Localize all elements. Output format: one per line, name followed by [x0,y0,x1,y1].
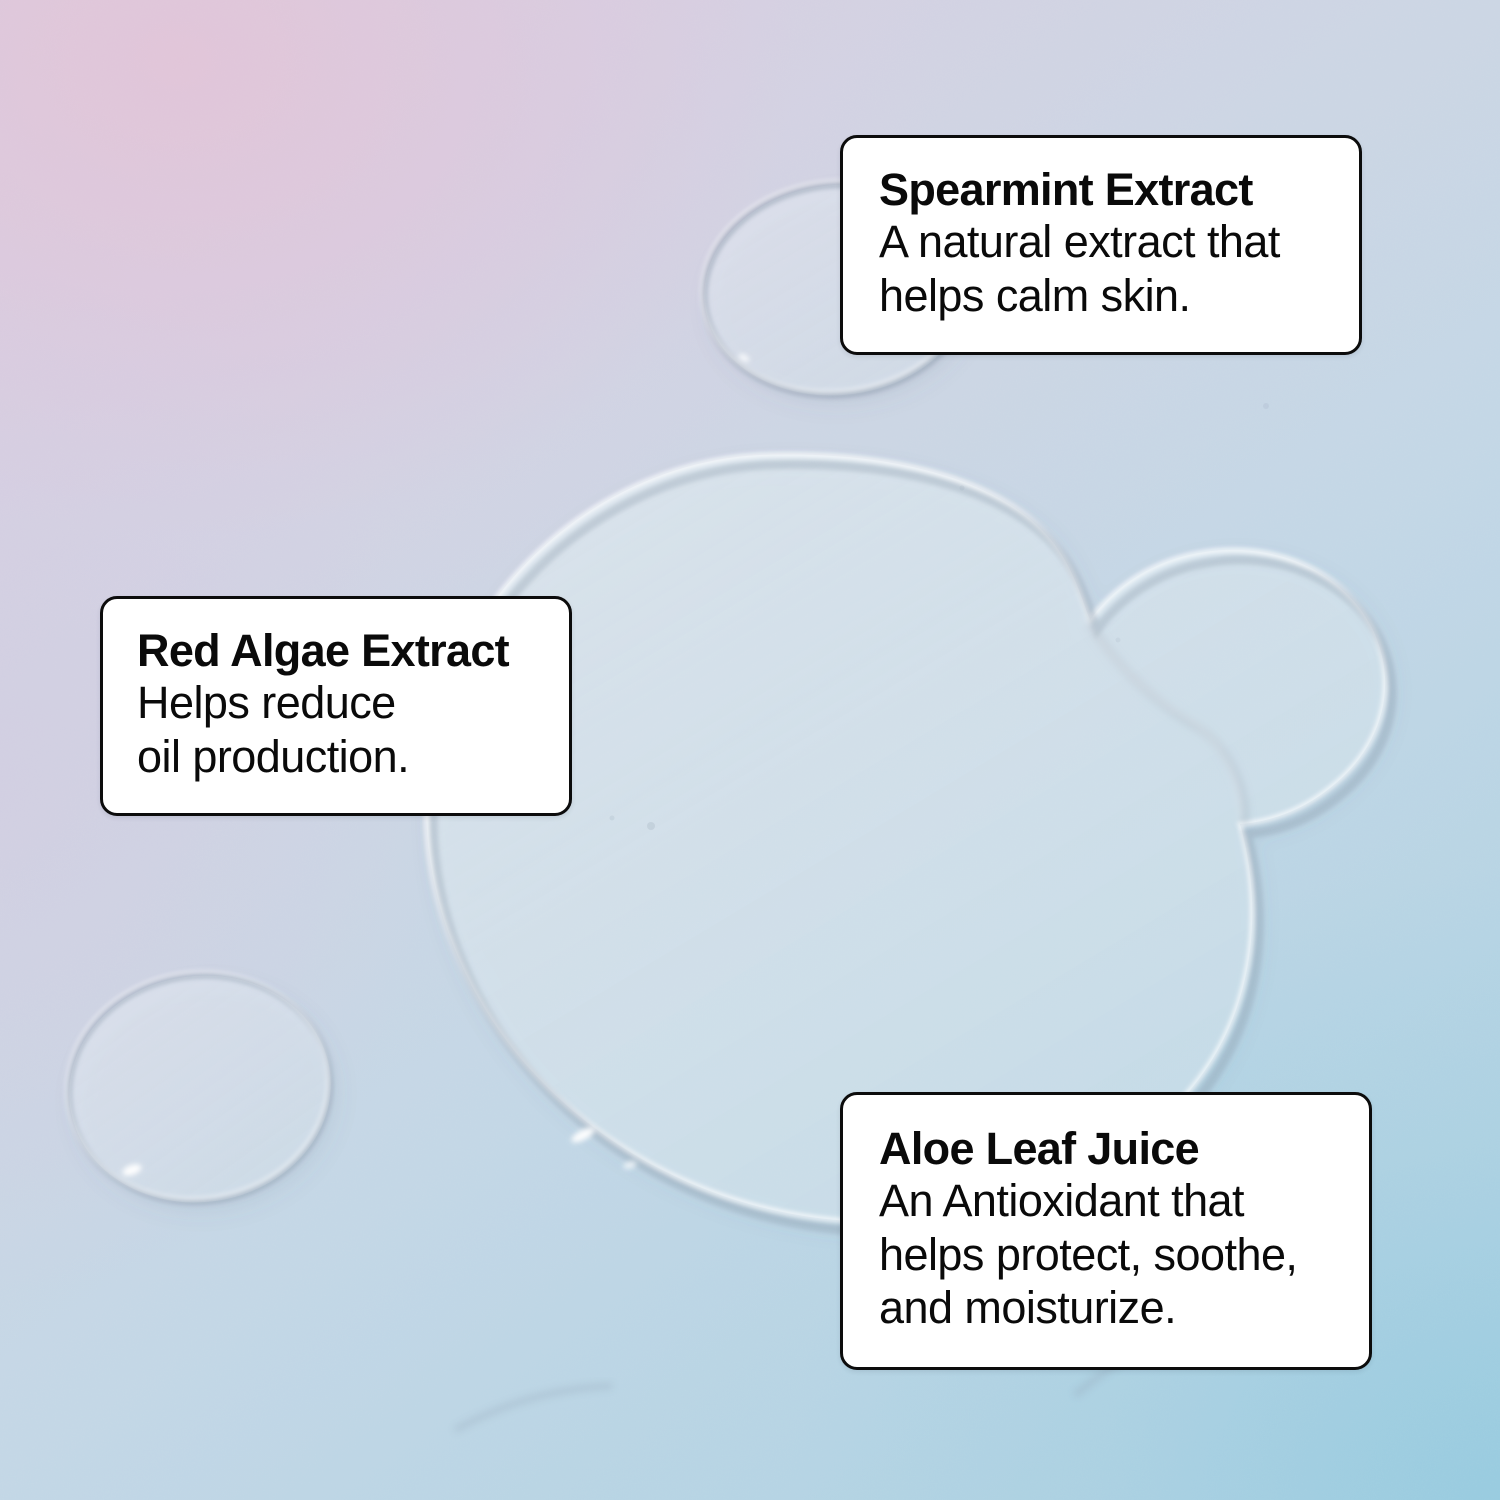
callout-title-red-algae: Red Algae Extract [137,625,543,676]
callout-content-aloe: Aloe Leaf Juice An Antioxidant that help… [843,1095,1369,1367]
ingredient-infographic: Spearmint Extract A natural extract that… [0,0,1500,1500]
callout-card-spearmint[interactable]: Spearmint Extract A natural extract that… [840,135,1362,355]
callout-card-aloe[interactable]: Aloe Leaf Juice An Antioxidant that help… [840,1092,1372,1370]
callout-title-spearmint: Spearmint Extract [879,164,1329,215]
callout-card-red-algae[interactable]: Red Algae Extract Helps reduce oil produ… [100,596,572,816]
callout-content-spearmint: Spearmint Extract A natural extract that… [843,138,1359,352]
callout-description-red-algae: Helps reduce oil production. [137,676,543,783]
callout-title-aloe: Aloe Leaf Juice [879,1123,1343,1174]
callout-description-spearmint: A natural extract that helps calm skin. [879,215,1329,322]
callout-content-red-algae: Red Algae Extract Helps reduce oil produ… [103,599,569,813]
callout-description-aloe: An Antioxidant that helps protect, sooth… [879,1174,1343,1335]
